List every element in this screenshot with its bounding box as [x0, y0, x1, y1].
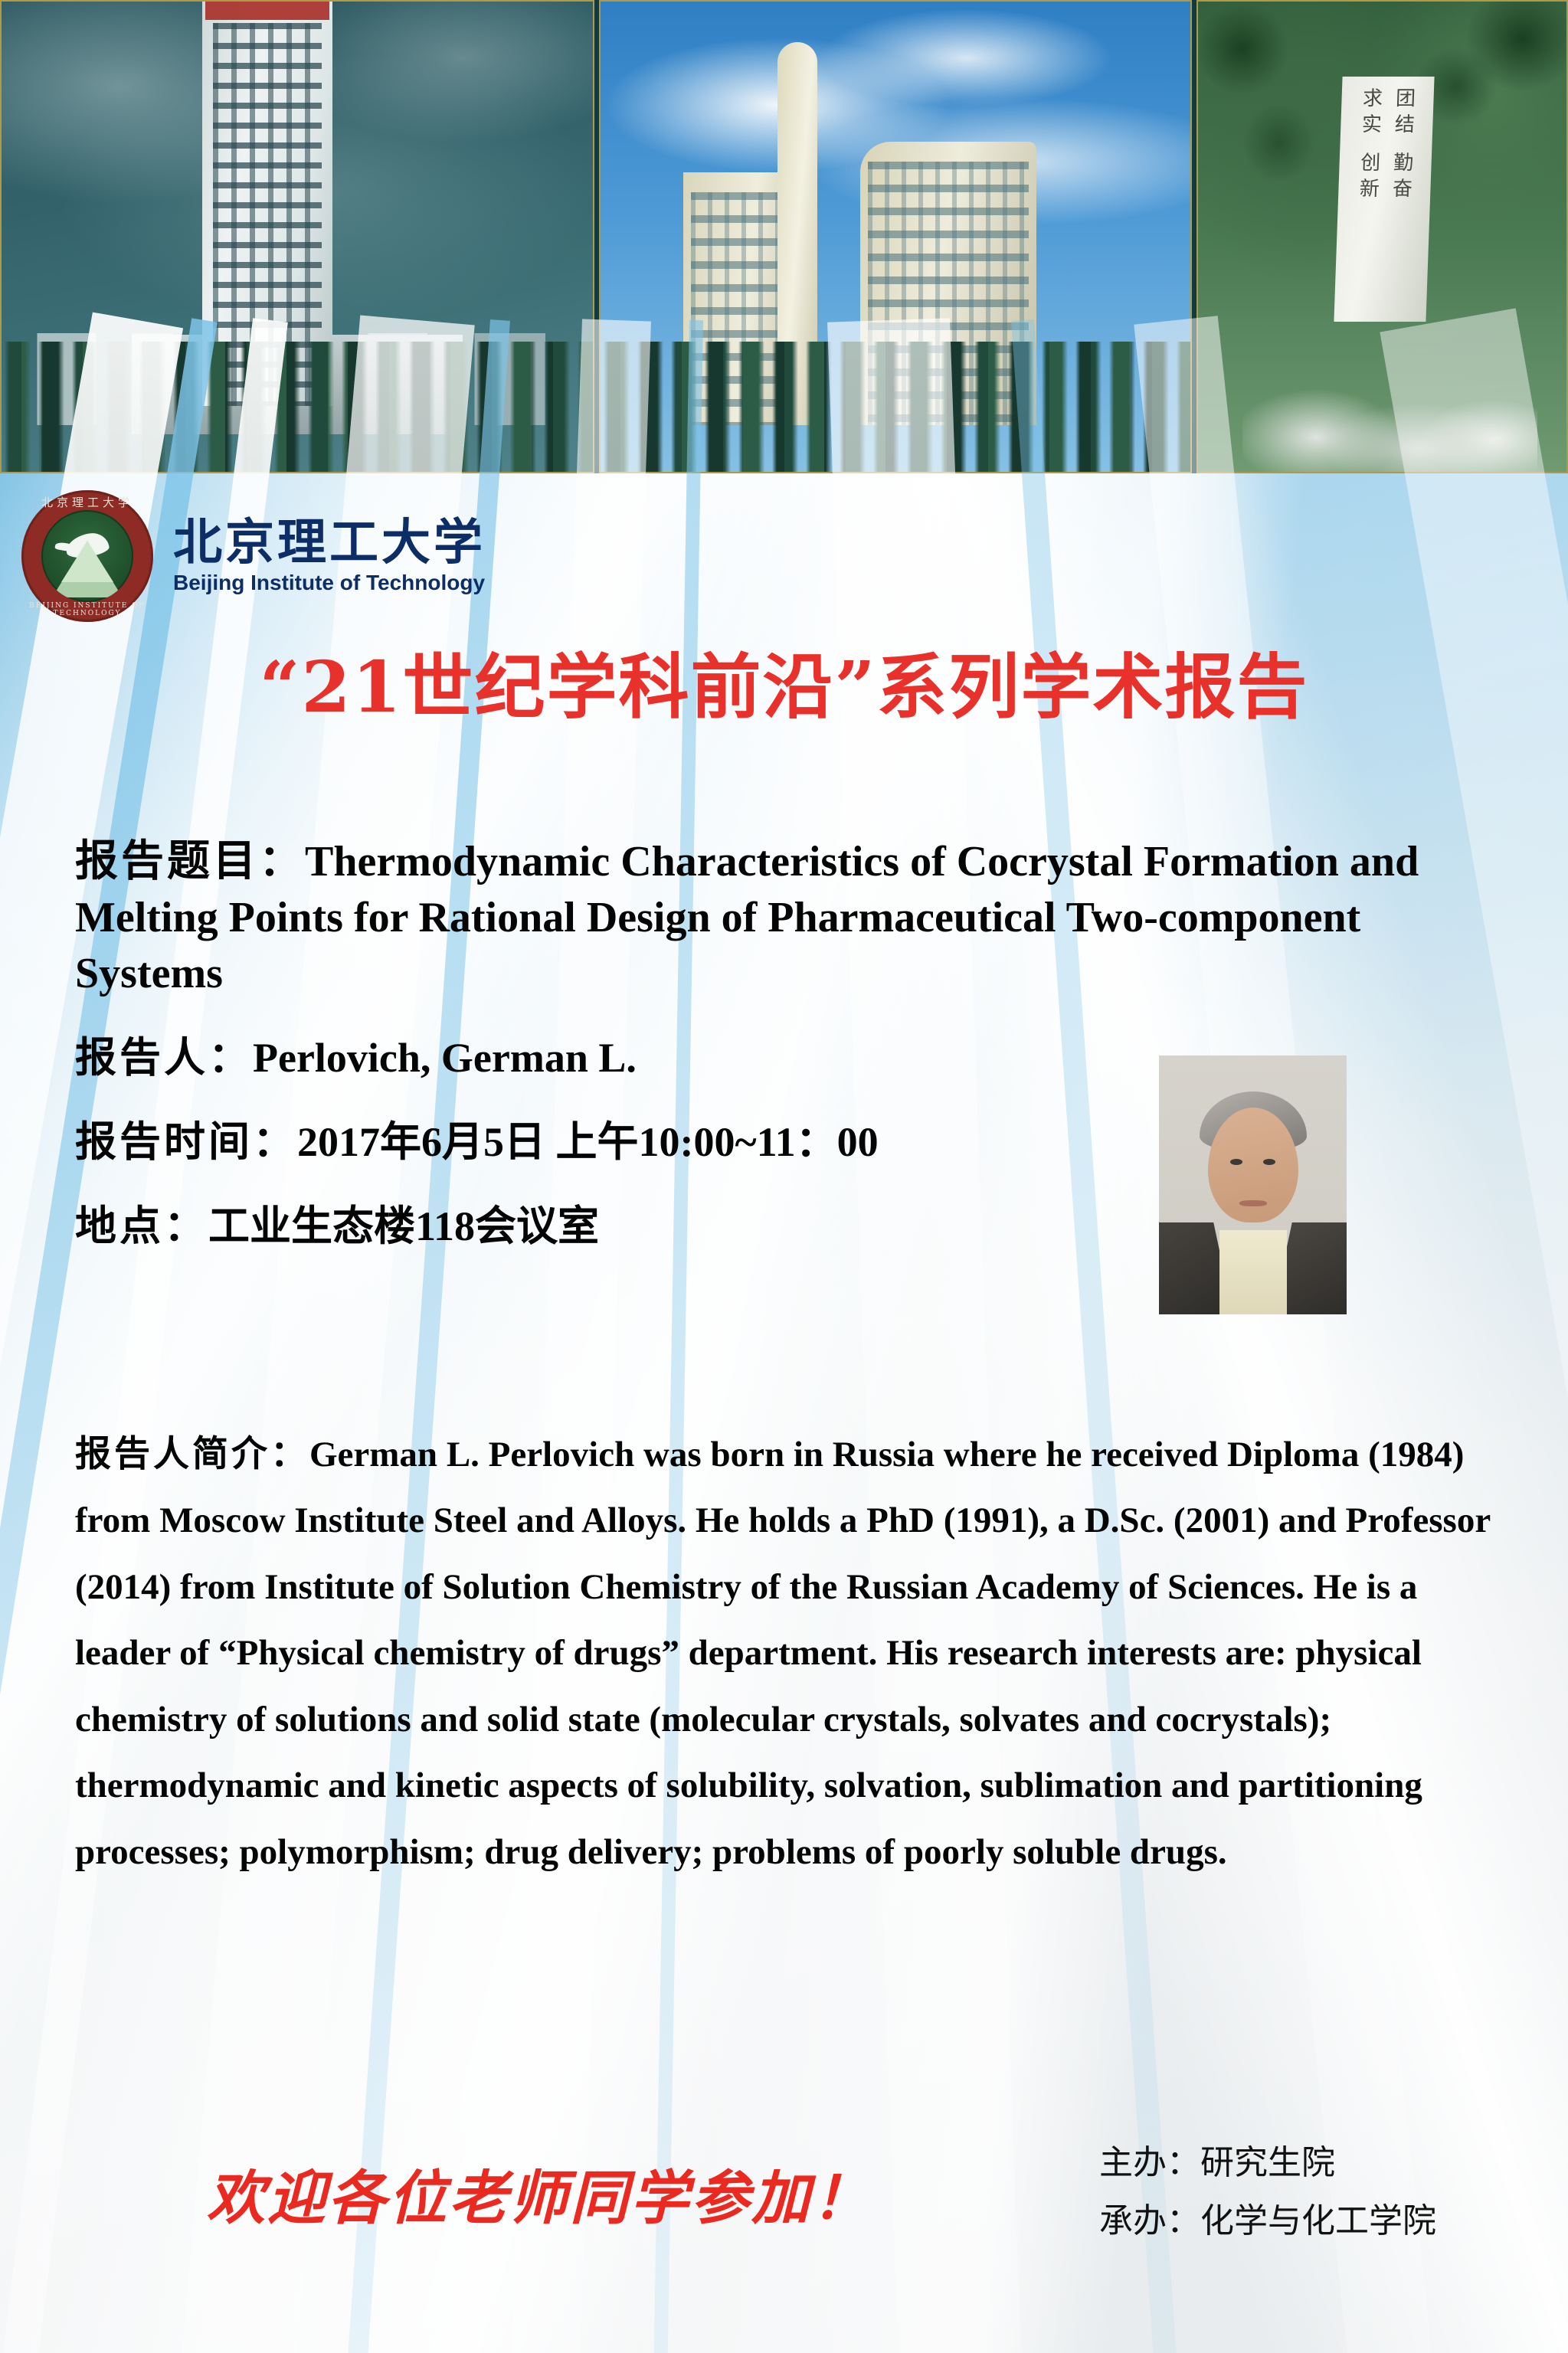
speaker-portrait	[1159, 1055, 1347, 1314]
university-name-block: 北京理工大学 Beijing Institute of Technology	[173, 517, 486, 594]
place-value: 工业生态楼118会议室	[208, 1203, 599, 1249]
speaker-line: 报告人：Perlovich, German L.	[75, 1036, 637, 1078]
motto-column-right: 团结 勤奋	[1386, 87, 1419, 204]
talk-title-line: 报告题目：Thermodynamic Characteristics of Co…	[75, 833, 1446, 1001]
time-line: 报告时间：2017年6月5日 上午10:00~11：00	[75, 1121, 879, 1163]
pine-tree-top-icon	[61, 541, 113, 582]
time-value: 2017年6月5日 上午10:00~11：00	[297, 1119, 879, 1165]
place-line: 地点：工业生态楼118会议室	[75, 1205, 599, 1247]
seal-inner-emblem	[41, 510, 133, 602]
seal-english-ring-text: BEIJING INSTITUTE OF TECHNOLOGY	[21, 602, 153, 617]
time-label: 报告时间：	[75, 1117, 297, 1166]
shirt	[1219, 1230, 1287, 1314]
motto-column-left: 求实 创新	[1354, 87, 1386, 204]
bio-text: German L. Perlovich was born in Russia w…	[75, 1435, 1490, 1872]
university-seal-icon: 北京理工大学 BEIJING INSTITUTE OF TECHNOLOGY	[21, 490, 153, 622]
mouth	[1239, 1200, 1267, 1206]
motto-text: 团结 勤奋 求实 创新	[1338, 87, 1434, 204]
speaker-label: 报告人：	[75, 1033, 253, 1082]
poster-content: 北京理工大学 BEIJING INSTITUTE OF TECHNOLOGY 北…	[0, 473, 1568, 2353]
poster-root: 团结 勤奋 求实 创新 北京理工大学	[0, 0, 1568, 2353]
organizer-block: 主办：研究生院 承办：化学与化工学院	[1099, 2134, 1528, 2250]
bio-label: 报告人简介：	[75, 1433, 309, 1475]
speaker-bio: 报告人简介：German L. Perlovich was born in Ru…	[75, 1422, 1515, 1885]
page-title: “21世纪学科前沿”系列学术报告	[0, 630, 1568, 732]
rooftop-sign	[205, 0, 329, 20]
university-branding: 北京理工大学 BEIJING INSTITUTE OF TECHNOLOGY 北…	[21, 490, 486, 622]
university-name-cn: 北京理工大学	[173, 517, 486, 568]
place-label: 地点：	[75, 1201, 208, 1250]
header-photo-strip: 团结 勤奋 求实 创新	[0, 0, 1568, 473]
welcome-message: 欢迎各位老师同学参加！	[207, 2151, 872, 2235]
motto-stone: 团结 勤奋 求实 创新	[1334, 77, 1434, 322]
talk-title-label: 报告题目：	[75, 836, 305, 886]
host-line: 主办：研究生院	[1099, 2134, 1528, 2192]
organizer-line: 承办：化学与化工学院	[1099, 2192, 1528, 2250]
speaker-value: Perlovich, German L.	[253, 1035, 637, 1081]
university-name-en: Beijing Institute of Technology	[173, 571, 486, 595]
seal-chinese-ring-text: 北京理工大学	[21, 494, 153, 510]
